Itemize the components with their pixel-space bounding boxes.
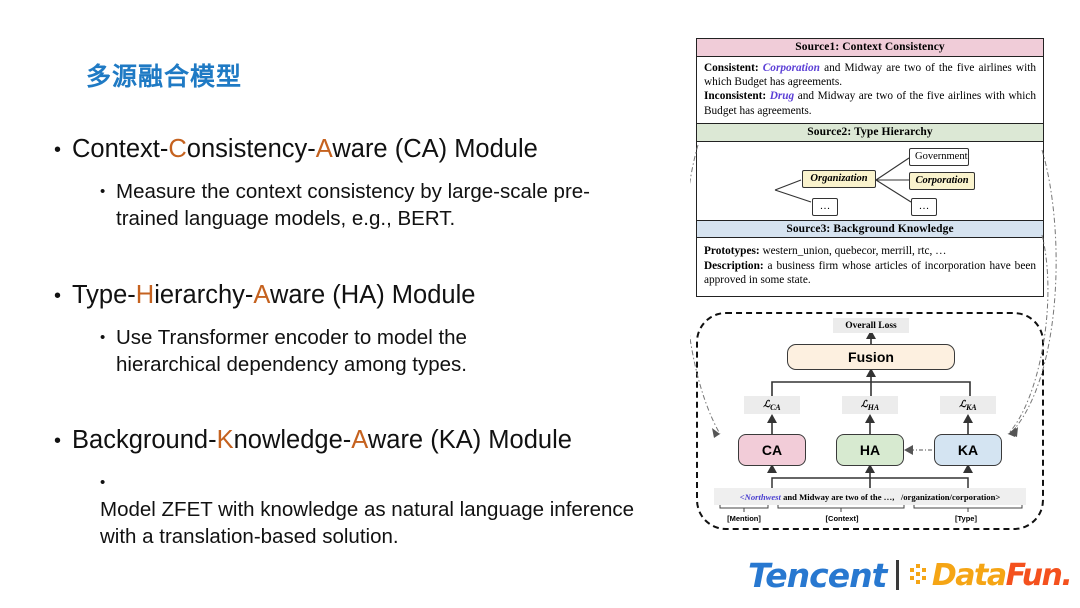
- bullet-ha-post: ware (HA) Module: [270, 281, 475, 309]
- knowledge-sources-table: Source1: Context Consistency Consistent:…: [696, 38, 1044, 297]
- bullet-ka-accent-1: K: [217, 426, 234, 454]
- source1-body: Consistent: Corporation and Midway are t…: [697, 57, 1043, 124]
- bullet-ha-accent-1: H: [136, 281, 154, 309]
- type-node-organization: Organization: [802, 170, 876, 189]
- bullet-ca-post: ware (CA) Module: [332, 135, 537, 163]
- model-architecture-panel: Overall Loss Fusion ℒCA ℒHA ℒKA CA HA KA…: [696, 312, 1044, 530]
- bullet-ca-accent-2: A: [316, 135, 333, 163]
- bullet-ha-pre: Type-: [72, 281, 136, 309]
- bullet-ha-mid: ierarchy-: [154, 281, 253, 309]
- bullet-sub-ha: •Use Transformer encoder to model the hi…: [100, 324, 660, 378]
- architecture-figure: Source1: Context Consistency Consistent:…: [690, 30, 1065, 545]
- overall-loss-box: Overall Loss: [833, 318, 909, 333]
- type-node-ellipsis-right: …: [911, 198, 937, 217]
- footer-logos: Tencent DataFun.: [748, 552, 1071, 598]
- input-type-text: /organization/corporation>: [901, 492, 1000, 502]
- bullet-marker: •: [54, 285, 72, 309]
- loss-ca-subscript: CA: [770, 402, 781, 411]
- bracket-label-type: [Type]: [914, 514, 1018, 523]
- type-node-ellipsis-left: …: [812, 198, 838, 217]
- bullet-ca-accent-1: C: [168, 135, 186, 163]
- input-mention-text: <Northwest: [740, 492, 781, 502]
- bracket-label-context: [Context]: [790, 514, 894, 523]
- loss-ka-subscript: KA: [966, 402, 977, 411]
- source1-header: Source1: Context Consistency: [697, 39, 1043, 57]
- bullet-sub-ka: •Model ZFET with knowledge as natural la…: [100, 469, 660, 550]
- source1-inconsistent-label: Inconsistent:: [704, 90, 766, 102]
- type-hierarchy-diagram: Organization Government Corporation … …: [697, 142, 1043, 220]
- slide-content-panel: 多源融合模型 •Context-Consistency-Aware (CA) M…: [0, 0, 680, 548]
- bullet-ca-pre: Context-: [72, 135, 168, 163]
- loss-ha-subscript: HA: [868, 402, 879, 411]
- source3-body: Prototypes: western_union, quebecor, mer…: [697, 238, 1043, 295]
- bullet-sub-ka-text: Model ZFET with knowledge as natural lan…: [100, 496, 645, 550]
- source1-inconsistent-entity: Drug: [770, 90, 795, 102]
- source3-prototypes-label: Prototypes:: [704, 245, 760, 257]
- source3-description-label: Description:: [704, 260, 764, 272]
- bullet-ca-mid: onsistency-: [187, 135, 316, 163]
- bullet-ka-mid: nowledge-: [234, 426, 352, 454]
- source3-header: Source3: Background Knowledge: [697, 220, 1043, 239]
- bullet-sub-ha-text: Use Transformer encoder to model the hie…: [116, 324, 536, 378]
- type-node-government: Government: [909, 148, 969, 167]
- bullet-ka-pre: Background-: [72, 426, 217, 454]
- logo-divider: [896, 560, 899, 590]
- bullet-marker: •: [100, 328, 116, 348]
- loss-ka-box: ℒKA: [940, 396, 996, 414]
- bullet-heading-ca: •Context-Consistency-Aware (CA) Module: [54, 134, 538, 164]
- module-box-ha: HA: [836, 434, 904, 466]
- bullet-ka-post: ware (KA) Module: [368, 426, 572, 454]
- source1-consistent-entity: Corporation: [763, 62, 820, 74]
- loss-symbol: ℒ: [861, 400, 868, 410]
- bullet-marker: •: [54, 139, 72, 163]
- bullet-sub-ca-text: Measure the context consistency by large…: [116, 178, 621, 232]
- loss-ca-box: ℒCA: [744, 396, 800, 414]
- bullet-ha-accent-2: A: [253, 281, 270, 309]
- datafun-dot-mark-icon: [909, 562, 931, 588]
- module-box-ka: KA: [934, 434, 1002, 466]
- bullet-marker: •: [100, 473, 116, 493]
- loss-ha-box: ℒHA: [842, 396, 898, 414]
- bullet-heading-ha: •Type-Hierarchy-Aware (HA) Module: [54, 280, 475, 310]
- source3-prototypes-value: western_union, quebecor, merrill, rtc, …: [762, 245, 946, 257]
- source1-consistent-label: Consistent:: [704, 62, 759, 74]
- bullet-sub-ca: •Measure the context consistency by larg…: [100, 178, 660, 232]
- bullet-ka-accent-2: A: [351, 426, 368, 454]
- fusion-box: Fusion: [787, 344, 955, 370]
- source2-header: Source2: Type Hierarchy: [697, 123, 1043, 142]
- module-box-ca: CA: [738, 434, 806, 466]
- page-title: 多源融合模型: [86, 57, 242, 93]
- datafun-fun-text: Fun.: [1006, 558, 1072, 593]
- bullet-heading-ka: •Background-Knowledge-Aware (KA) Module: [54, 425, 572, 455]
- input-example-strip: <Northwest and Midway are two of the …, …: [714, 488, 1026, 505]
- datafun-logo: DataFun.: [909, 558, 1071, 593]
- input-context-text: and Midway are two of the …,: [783, 492, 894, 502]
- tencent-logo: Tencent: [748, 556, 886, 595]
- bullet-marker: •: [54, 430, 72, 454]
- datafun-data-text: Data: [932, 558, 1006, 593]
- bullet-marker: •: [100, 182, 116, 202]
- type-node-corporation: Corporation: [909, 172, 975, 191]
- bracket-label-mention: [Mention]: [716, 514, 772, 523]
